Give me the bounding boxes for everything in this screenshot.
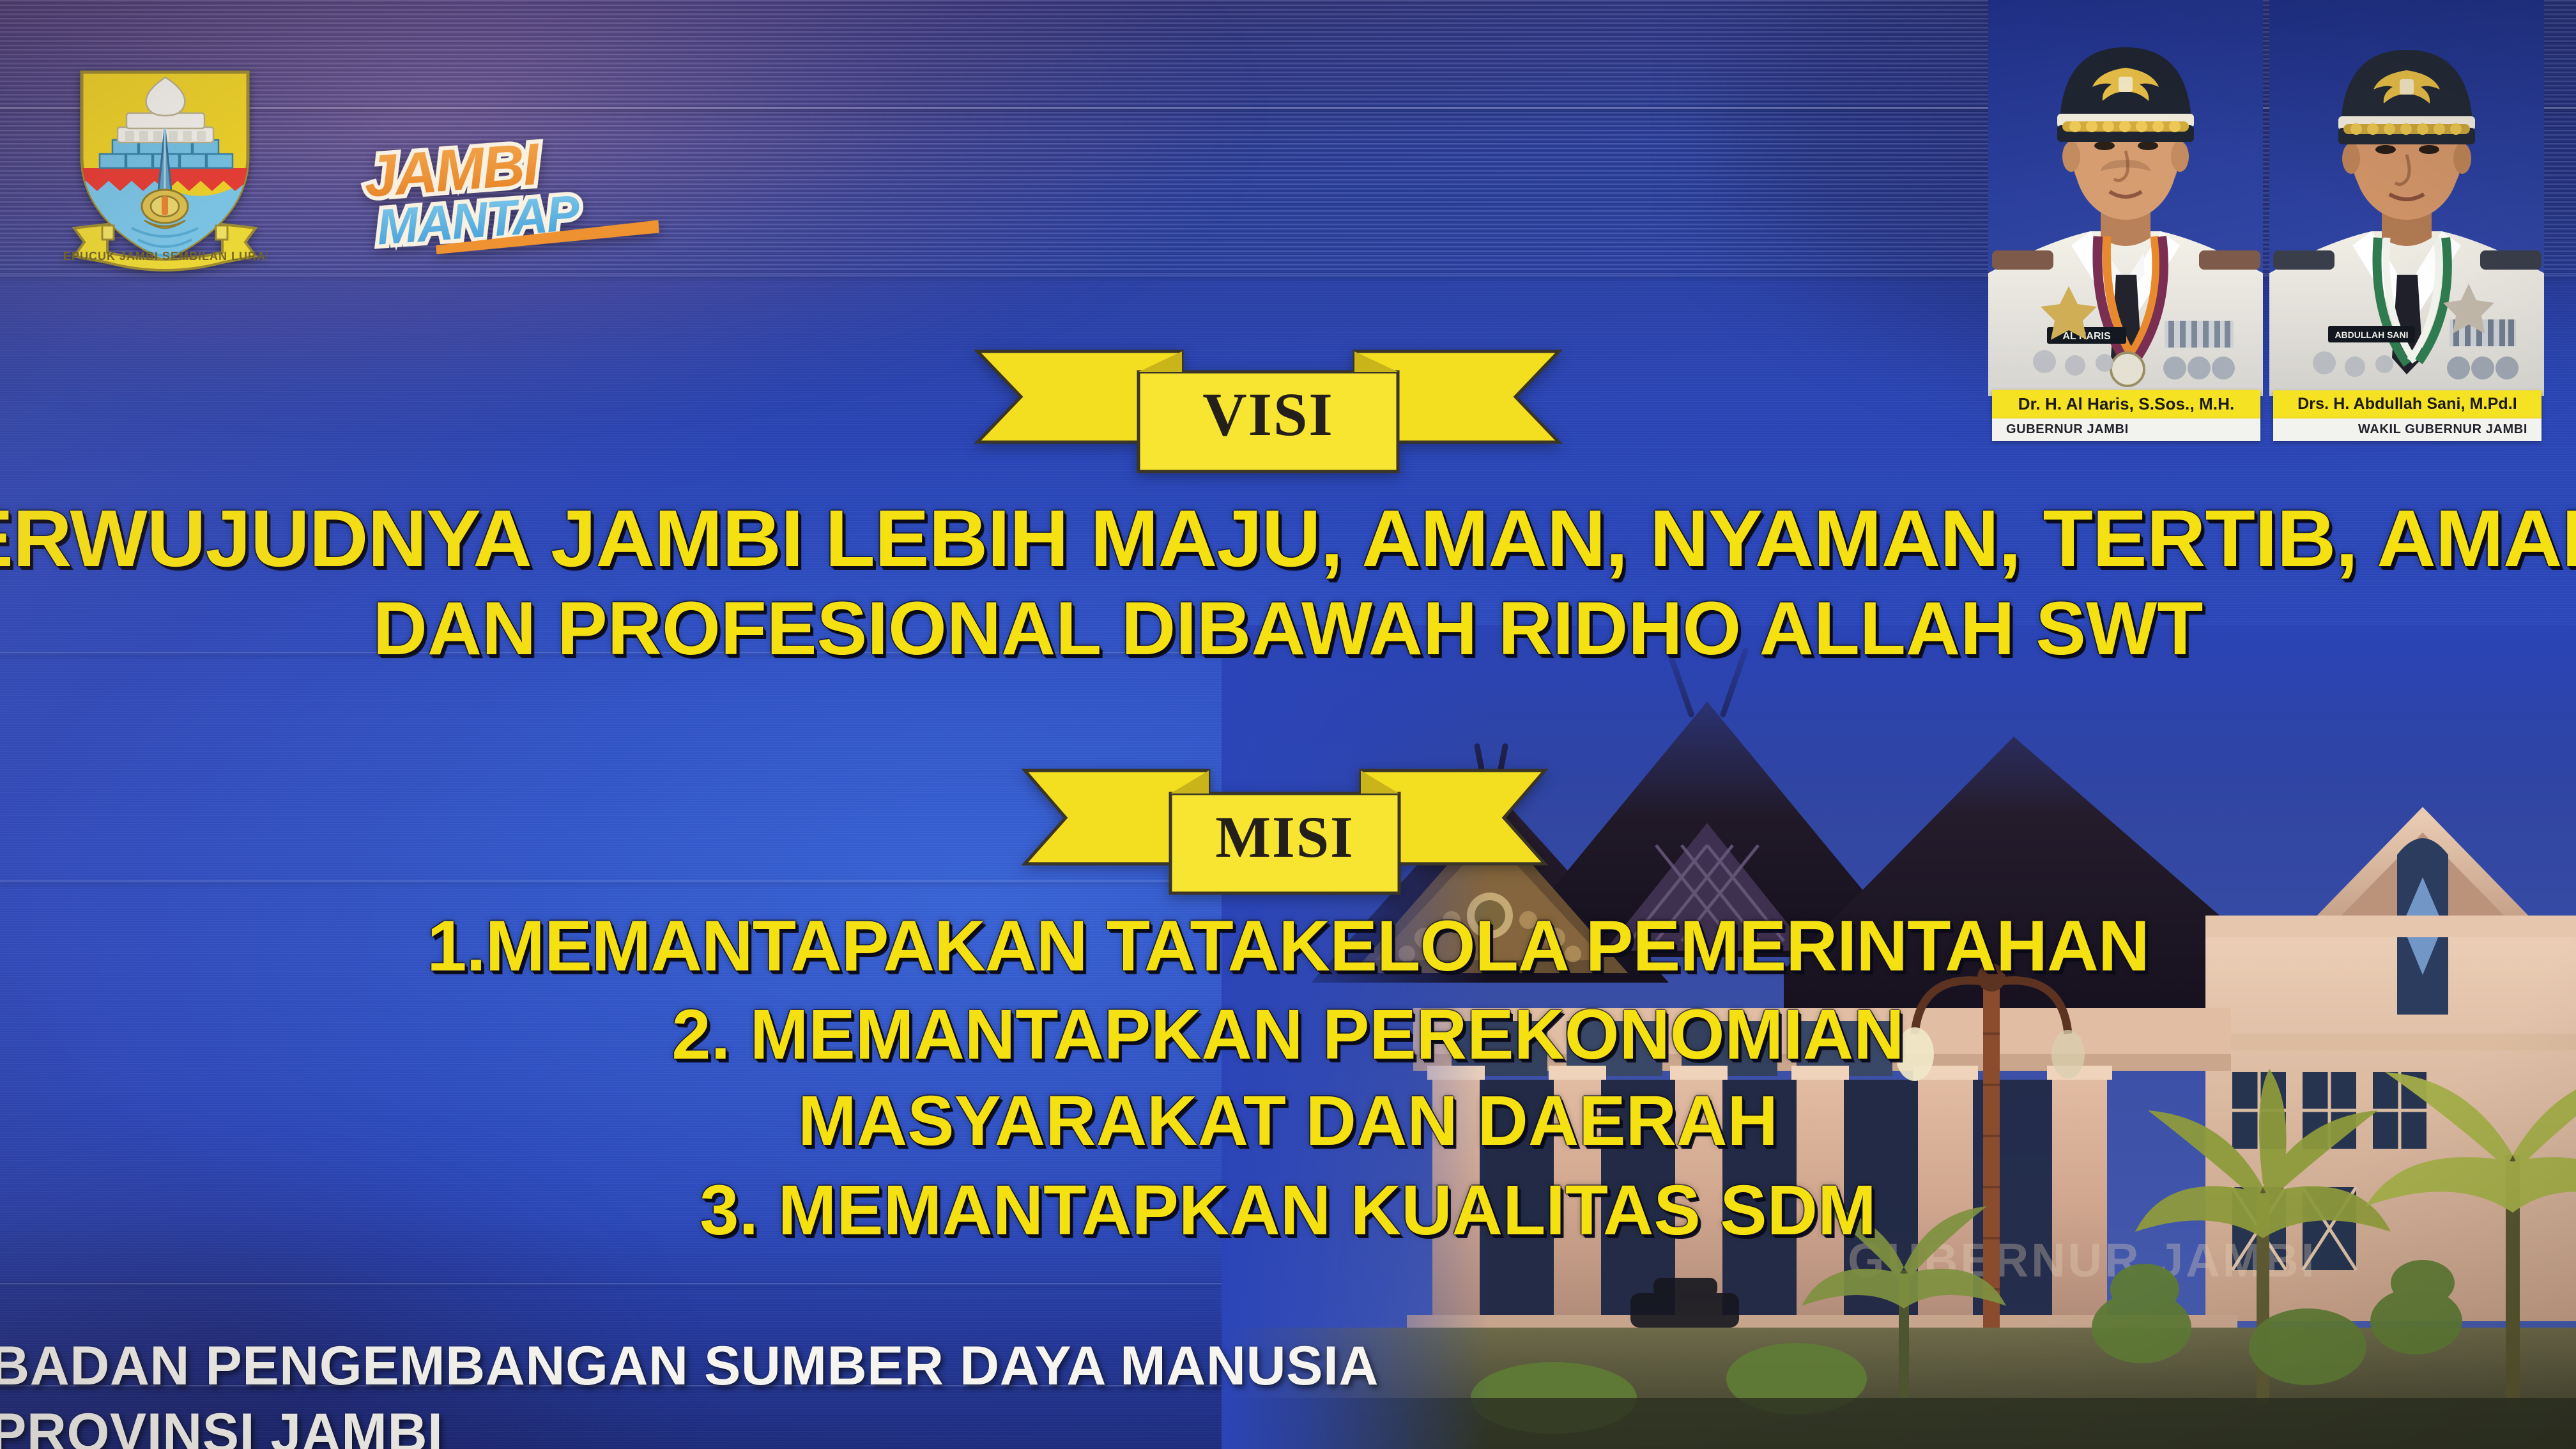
vision-text-line-2: DAN PROFESIONAL DIBAWAH RIDHO ALLAH SWT — [0, 591, 2576, 666]
officials-portraits: AL HARIS — [1988, 0, 2576, 447]
governor-title: GUBERNUR JAMBI — [1992, 418, 2260, 441]
official-governor: AL HARIS — [1988, 0, 2263, 447]
banner-photo: GUBERNUR JAMBI — [0, 0, 2576, 1449]
governor-name-badge: AL HARIS — [2062, 331, 2111, 342]
jambi-coat-of-arms-icon: SEPUCUK JAMBI SEMBILAN LURAH — [63, 61, 267, 272]
misi-label: MISI — [1020, 760, 1550, 901]
vice-governor-name: Drs. H. Abdullah Sani, M.Pd.I — [2273, 390, 2541, 418]
vice-governor-name-badge: ABDULLAH SANI — [2334, 330, 2408, 340]
coat-of-arms-motto: SEPUCUK JAMBI SEMBILAN LURAH — [63, 250, 267, 263]
governor-portrait: AL HARIS — [1988, 0, 2263, 396]
governor-name: Dr. H. Al Haris, S.Sos., M.H. — [1992, 390, 2260, 418]
vice-governor-title: WAKIL GUBERNUR JAMBI — [2273, 418, 2541, 441]
mission-text-line-3: MASYARAKAT DAN DAERAH — [0, 1086, 2576, 1156]
vice-governor-namecard: Drs. H. Abdullah Sani, M.Pd.I WAKIL GUBE… — [2273, 390, 2541, 441]
vice-governor-portrait: ABDULLAH SANI — [2269, 0, 2544, 396]
governor-namecard: Dr. H. Al Haris, S.Sos., M.H. GUBERNUR J… — [1992, 390, 2260, 441]
jambi-mantap-logo: JAMBI JAMBI MANTAP MANTAP — [351, 114, 692, 260]
mission-text-line-2: 2. MEMANTAPKAN PEREKONOMIAN — [0, 1000, 2576, 1070]
visi-label: VISI — [971, 332, 1565, 479]
visi-ribbon-banner: VISI — [971, 332, 1565, 479]
misi-ribbon-banner: MISI — [1020, 760, 1550, 901]
official-vice-governor: ABDULLAH SANI — [2269, 0, 2544, 447]
mission-text-line-4: 3. MEMANTAPKAN KUALITAS SDM — [0, 1176, 2576, 1246]
organization-name-line-2: PROVINSI JAMBI — [0, 1406, 443, 1449]
vision-text-line-1: ERWUJUDNYA JAMBI LEBIH MAJU, AMAN, NYAMA… — [0, 498, 2576, 579]
mission-text-line-1: 1.MEMANTAPAKAN TATAKELOLA PEMERINTAHAN — [0, 910, 2576, 982]
organization-name-line-1: BADAN PENGEMBANGAN SUMBER DAYA MANUSIA — [0, 1338, 1379, 1393]
